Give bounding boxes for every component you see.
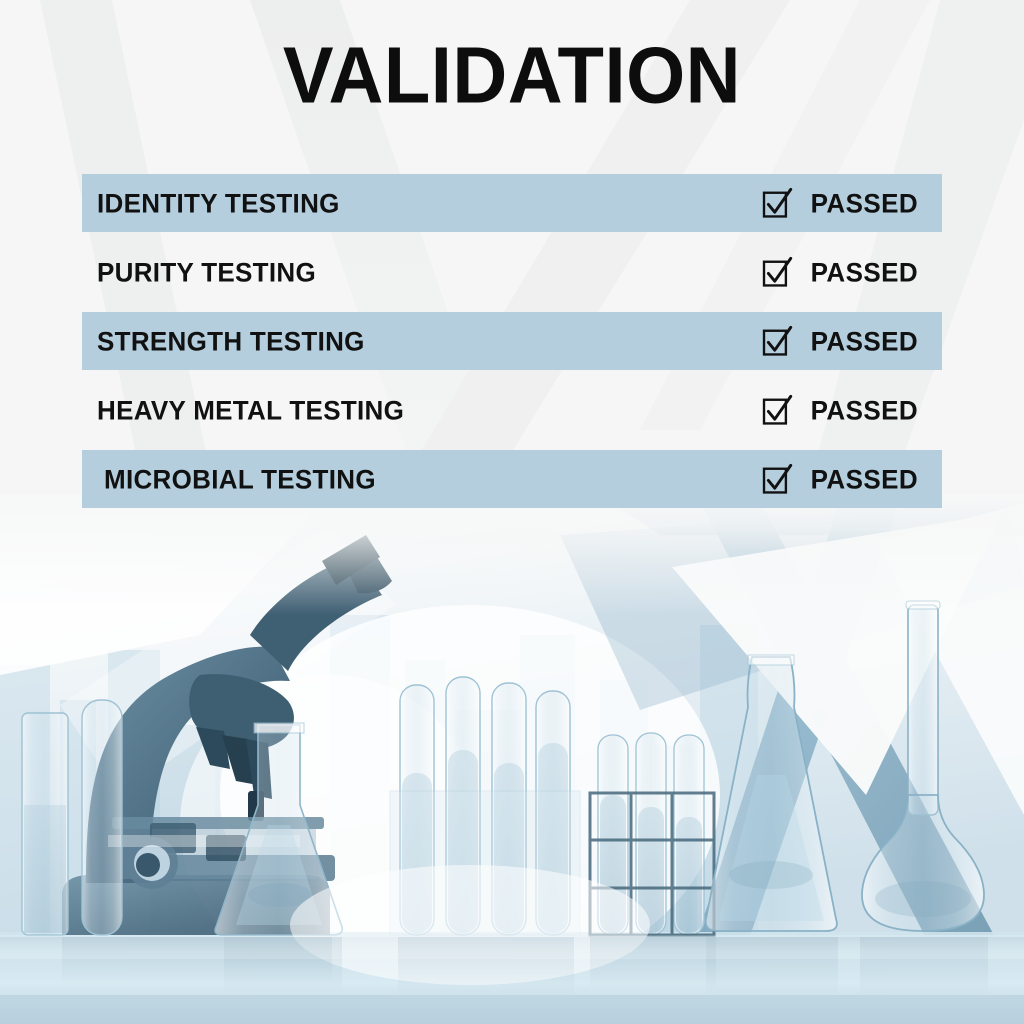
test-tube-left [82, 700, 122, 935]
checklist-row[interactable]: MICROBIAL TESTINGPASSED [82, 450, 942, 508]
checklist-row-status: PASSED [762, 174, 918, 232]
checklist-row[interactable]: IDENTITY TESTINGPASSED [82, 174, 942, 232]
checklist-row-status: PASSED [762, 450, 918, 508]
validation-checklist: IDENTITY TESTINGPASSEDPURITY TESTINGPASS… [82, 174, 942, 519]
checkbox-checked-icon[interactable] [762, 463, 793, 496]
poster-canvas: VALIDATION IDENTITY TESTINGPASSEDPURITY … [0, 0, 1024, 1024]
status-badge: PASSED [811, 256, 918, 288]
checklist-row-status: PASSED [762, 243, 918, 301]
status-badge: PASSED [811, 325, 918, 357]
checklist-row-label: HEAVY METAL TESTING [97, 394, 404, 426]
checklist-row[interactable]: PURITY TESTINGPASSED [82, 243, 942, 301]
status-badge: PASSED [811, 463, 918, 495]
graduated-cylinder [22, 713, 68, 935]
checkbox-checked-icon[interactable] [762, 325, 793, 358]
checklist-row-label: PURITY TESTING [97, 256, 316, 288]
checkbox-checked-icon[interactable] [762, 394, 793, 427]
checkbox-checked-icon[interactable] [762, 187, 793, 220]
checklist-row[interactable]: STRENGTH TESTINGPASSED [82, 312, 942, 370]
status-badge: PASSED [811, 187, 918, 219]
checklist-row-status: PASSED [762, 381, 918, 439]
checklist-row-label: STRENGTH TESTING [97, 325, 365, 357]
status-badge: PASSED [811, 394, 918, 426]
checklist-row-label: MICROBIAL TESTING [104, 463, 376, 495]
checklist-row-label: IDENTITY TESTING [97, 187, 340, 219]
checklist-row[interactable]: HEAVY METAL TESTINGPASSED [82, 381, 942, 439]
laboratory-scene-image [0, 495, 1024, 1024]
page-title: VALIDATION [0, 36, 1024, 116]
checkbox-checked-icon[interactable] [762, 256, 793, 289]
page-title-container: VALIDATION [0, 38, 1024, 114]
checklist-row-status: PASSED [762, 312, 918, 370]
